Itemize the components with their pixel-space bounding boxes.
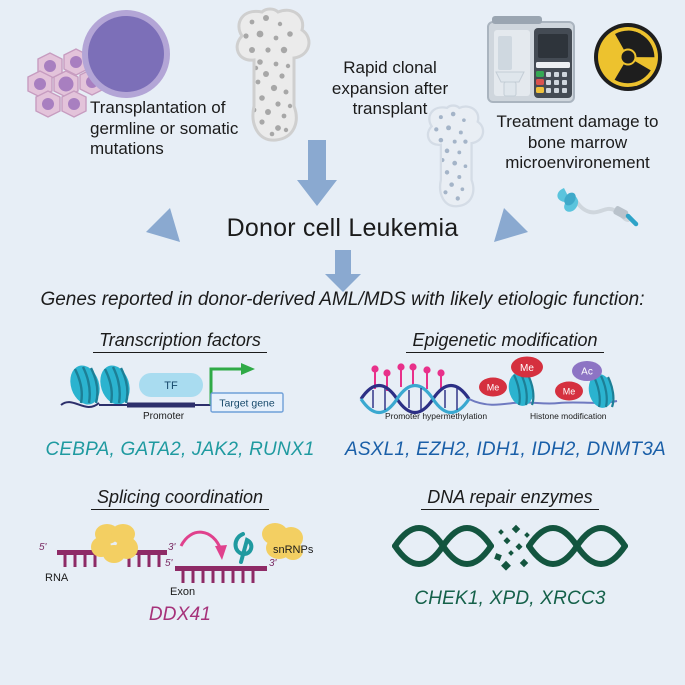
diagram-dna-repair-enzymes xyxy=(355,510,665,572)
label-3-prime-rna: 3' xyxy=(168,542,175,553)
panel-title-transcription-factors: Transcription factors xyxy=(93,330,267,353)
label-5-prime-exon: 5' xyxy=(165,558,172,569)
svg-text:Me: Me xyxy=(563,387,576,397)
panel-transcription-factors: Transcription factors xyxy=(25,330,335,461)
arrow-top-to-center xyxy=(297,140,337,208)
gene-list-splicing-coordination: DDX41 xyxy=(25,604,335,626)
panel-title-dna-repair-enzymes: DNA repair enzymes xyxy=(421,487,598,510)
panel-title-epigenetic-modification: Epigenetic modification xyxy=(406,330,603,353)
panel-splicing-coordination: Splicing coordination xyxy=(25,487,335,626)
cause-label-transplantation: Transplantation of germline or somatic m… xyxy=(90,98,270,160)
svg-text:Ac: Ac xyxy=(581,367,593,378)
diagram-epigenetic-modification: Me Me Ac Me Promoter hypermethylation Hi… xyxy=(345,353,665,425)
caption-snrnps: snRNPs xyxy=(273,544,313,556)
caption-histone-modification: Histone modification xyxy=(530,411,607,421)
cause-label-treatment-damage: Treatment damage to bone marrow microenv… xyxy=(490,112,665,174)
svg-text:Target gene: Target gene xyxy=(219,398,275,410)
infusion-pump-icon xyxy=(486,14,576,106)
cause-label-rapid-clonal-expansion: Rapid clonal expansion after transplant xyxy=(320,58,460,120)
svg-text:TF: TF xyxy=(164,380,178,392)
panel-title-splicing-coordination: Splicing coordination xyxy=(91,487,269,510)
caption-promoter: Promoter xyxy=(143,411,184,422)
panel-epigenetic-modification: Epigenetic modification xyxy=(345,330,665,461)
caption-exon: Exon xyxy=(170,586,195,598)
radiation-hazard-icon xyxy=(593,22,663,92)
svg-text:Me: Me xyxy=(520,363,534,374)
panel-dna-repair-enzymes: DNA repair enzymes xyxy=(355,487,665,610)
label-3-prime-exon: 3' xyxy=(269,558,276,569)
gene-list-epigenetic-modification: ASXL1, EZH2, IDH1, IDH2, DNMT3A xyxy=(345,439,665,461)
caption-promoter-hypermethylation: Promoter hypermethylation xyxy=(385,411,487,421)
subtitle: Genes reported in donor-derived AML/MDS … xyxy=(0,288,685,311)
caption-rna: RNA xyxy=(45,572,68,584)
page-title: Donor cell Leukemia xyxy=(0,213,685,244)
gene-list-transcription-factors: CEBPA, GATA2, JAK2, RUNX1 xyxy=(25,439,335,461)
diagram-splicing-coordination: 5' 3' 5' 3' RNA Exon snRNPs xyxy=(25,510,335,588)
label-5-prime-rna: 5' xyxy=(39,542,46,553)
diagram-transcription-factors: TF Target gene Promoter xyxy=(25,353,335,425)
gene-list-dna-repair-enzymes: CHEK1, XPD, XRCC3 xyxy=(355,588,665,610)
figure-canvas: Transplantation of germline or somatic m… xyxy=(0,0,685,685)
large-cell-icon xyxy=(80,8,172,100)
svg-text:Me: Me xyxy=(487,383,500,393)
